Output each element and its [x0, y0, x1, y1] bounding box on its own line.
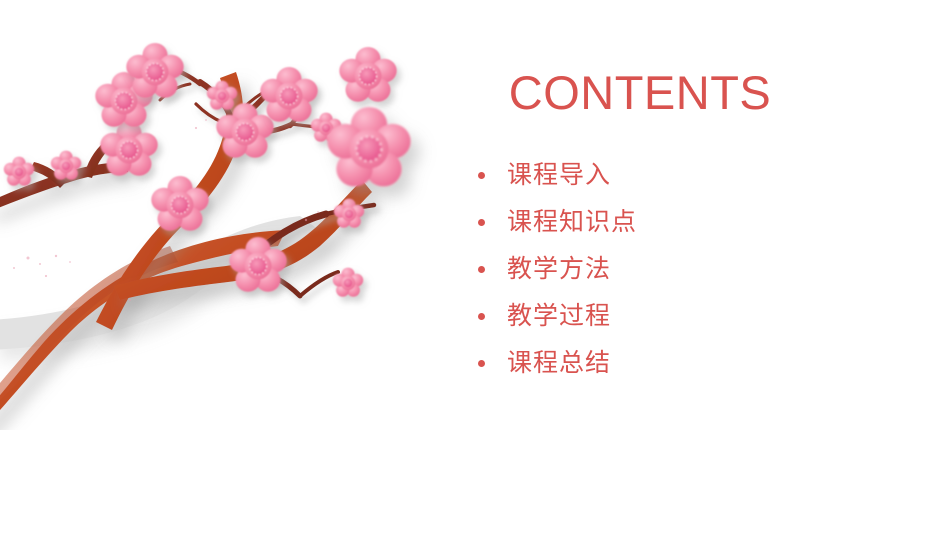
list-item[interactable]: 教学方法: [478, 246, 637, 293]
dot-bullet-icon: [478, 266, 485, 273]
tree-branch-right-lower: [114, 180, 372, 300]
list-item[interactable]: 课程导入: [478, 152, 637, 199]
page-title: CONTENTS: [440, 68, 840, 117]
list-item-label: 教学方法: [507, 257, 611, 282]
contents-panel: CONTENTS 课程导入 课程知识点 教学方法 教学过程 课程总结: [440, 0, 950, 535]
dot-bullet-icon: [478, 360, 485, 367]
tree-branch-right-thin: [242, 205, 374, 296]
list-item-label: 课程知识点: [507, 210, 637, 235]
tree-twigs: [160, 66, 332, 133]
floating-blossom-large: [327, 107, 410, 186]
list-item-label: 课程总结: [507, 351, 611, 376]
tree-branch-left-upper: [0, 142, 128, 212]
dot-bullet-icon: [478, 313, 485, 320]
dot-bullet-icon: [478, 172, 485, 179]
list-item[interactable]: 课程总结: [478, 340, 637, 387]
presentation-slide: CONTENTS 课程导入 课程知识点 教学方法 教学过程 课程总结: [0, 0, 950, 535]
dot-bullet-icon: [478, 219, 485, 226]
list-item[interactable]: 教学过程: [478, 293, 637, 340]
blossom-cluster: [4, 43, 364, 297]
artwork-shadow-layer: [0, 216, 330, 350]
floating-blossom-top: [339, 47, 396, 102]
blossom-speckles: [13, 119, 319, 301]
list-item[interactable]: 课程知识点: [478, 199, 637, 246]
list-item-label: 课程导入: [507, 163, 611, 188]
tree-trunk: [0, 230, 286, 430]
contents-list: 课程导入 课程知识点 教学方法 教学过程 课程总结: [478, 152, 637, 387]
plum-blossom-branch-illustration: [0, 0, 440, 430]
tree-branch-center: [96, 72, 243, 330]
list-item-label: 教学过程: [507, 304, 611, 329]
